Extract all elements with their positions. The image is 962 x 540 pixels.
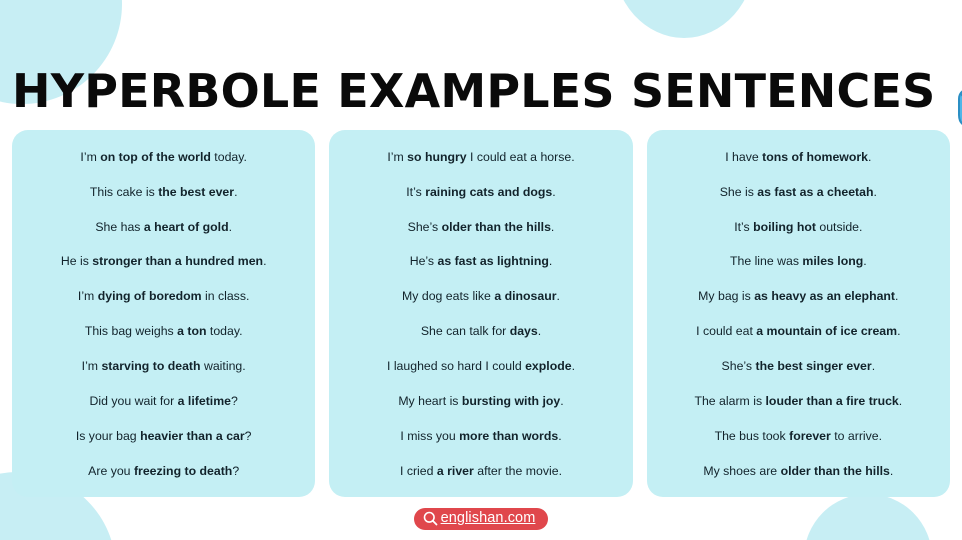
sentence-item: My bag is as heavy as an elephant. <box>657 289 940 304</box>
sentence-post: . <box>899 394 902 408</box>
sentence-item: He is stronger than a hundred men. <box>22 254 305 269</box>
sentence-post: today. <box>211 150 247 164</box>
sentence-pre: This bag weighs <box>85 324 177 338</box>
sentence-bold: more than words <box>459 429 558 443</box>
sentence-card-column-3: I have tons of homework. She is as fast … <box>647 130 950 497</box>
sentence-post: . <box>872 359 875 373</box>
sentence-item: She is as fast as a cheetah. <box>657 185 940 200</box>
sentence-pre: She can talk for <box>421 324 510 338</box>
sentence-post: . <box>895 289 898 303</box>
sentence-columns: I’m on top of the world today. This cake… <box>12 130 950 497</box>
sentence-pre: My dog eats like <box>402 289 494 303</box>
sentence-post: . <box>890 464 893 478</box>
sentence-bold: tons of homework <box>762 150 868 164</box>
sentence-bold: boiling hot <box>753 220 816 234</box>
sentence-pre: My shoes are <box>703 464 780 478</box>
sentence-pre: I laughed so hard I could <box>387 359 525 373</box>
sentence-pre: She has <box>95 220 144 234</box>
sentence-pre: I cried <box>400 464 437 478</box>
sentence-post: ? <box>245 429 252 443</box>
sentence-pre: The alarm is <box>694 394 765 408</box>
sentence-item: Did you wait for a lifetime? <box>22 394 305 409</box>
sentence-pre: My bag is <box>698 289 754 303</box>
sentence-pre: I could eat <box>696 324 756 338</box>
sentence-post: to arrive. <box>831 429 882 443</box>
sentence-item: This cake is the best ever. <box>22 185 305 200</box>
sentence-bold: miles long <box>802 254 863 268</box>
sentence-post: . <box>572 359 575 373</box>
sentence-item: He’s as fast as lightning. <box>339 254 622 269</box>
sentence-post: . <box>560 394 563 408</box>
sentence-post: . <box>234 185 237 199</box>
sentence-post: . <box>868 150 871 164</box>
sentence-bold: a ton <box>177 324 206 338</box>
sentence-item: My heart is bursting with joy. <box>339 394 622 409</box>
sentence-item: I could eat a mountain of ice cream. <box>657 324 940 339</box>
sentence-card-column-2: I’m so hungry I could eat a horse. It’s … <box>329 130 632 497</box>
poster-header: HYPERBOLE EXAMPLES SENTENCES <box>0 52 962 130</box>
sentence-bold: a mountain of ice cream <box>756 324 897 338</box>
sentence-bold: the best ever <box>158 185 234 199</box>
sentence-bold: a river <box>437 464 474 478</box>
poster-footer: englishan.com <box>0 508 962 530</box>
sentence-pre: She is <box>720 185 758 199</box>
sentence-item: I have tons of homework. <box>657 150 940 165</box>
sentence-pre: I’m <box>387 150 407 164</box>
decorative-circle-top-center <box>613 0 755 38</box>
sentence-item: She can talk for days. <box>339 324 622 339</box>
sentence-pre: It’s <box>734 220 753 234</box>
sentence-bold: the best singer ever <box>756 359 872 373</box>
sentence-post: . <box>552 185 555 199</box>
sentence-pre: He’s <box>410 254 438 268</box>
sentence-bold: explode <box>525 359 571 373</box>
sentence-post: in class. <box>202 289 250 303</box>
sentence-item: The bus took forever to arrive. <box>657 429 940 444</box>
sentence-bold: a heart of gold <box>144 220 229 234</box>
sentence-post: ? <box>231 394 238 408</box>
sentence-bold: as heavy as an elephant <box>754 289 895 303</box>
sentence-pre: I have <box>725 150 762 164</box>
sentence-pre: My heart is <box>398 394 462 408</box>
site-badge[interactable]: englishan.com <box>414 508 549 530</box>
sentence-item: It’s raining cats and dogs. <box>339 185 622 200</box>
sentence-pre: I’m <box>82 359 102 373</box>
sentence-item: Is your bag heavier than a car? <box>22 429 305 444</box>
sentence-bold: so hungry <box>407 150 466 164</box>
sentence-bold: heavier than a car <box>140 429 245 443</box>
sentence-bold: forever <box>789 429 831 443</box>
sentence-pre: The bus took <box>715 429 790 443</box>
sentence-item: I laughed so hard I could explode. <box>339 359 622 374</box>
sentence-item: My dog eats like a dinosaur. <box>339 289 622 304</box>
sentence-pre: The line was <box>730 254 802 268</box>
sentence-item: I’m starving to death waiting. <box>22 359 305 374</box>
sentence-bold: older than the hills <box>781 464 890 478</box>
sentence-pre: It’s <box>406 185 425 199</box>
sentence-bold: days <box>510 324 538 338</box>
sentence-item: The alarm is louder than a fire truck. <box>657 394 940 409</box>
sentence-post: today. <box>206 324 242 338</box>
sentence-pre: I’m <box>78 289 98 303</box>
sentence-pre: Are you <box>88 464 134 478</box>
sentence-item: I’m so hungry I could eat a horse. <box>339 150 622 165</box>
pencil-case-icon <box>949 41 962 133</box>
sentence-item: My shoes are older than the hills. <box>657 464 940 479</box>
sentence-post: . <box>863 254 866 268</box>
sentence-item: I’m dying of boredom in class. <box>22 289 305 304</box>
sentence-item: This bag weighs a ton today. <box>22 324 305 339</box>
sentence-bold: freezing to death <box>134 464 232 478</box>
sentence-post: . <box>229 220 232 234</box>
sentence-item: I cried a river after the movie. <box>339 464 622 479</box>
sentence-item: Are you freezing to death? <box>22 464 305 479</box>
sentence-post: outside. <box>816 220 863 234</box>
sentence-pre: Did you wait for <box>90 394 178 408</box>
sentence-bold: louder than a fire truck <box>766 394 899 408</box>
sentence-bold: raining cats and dogs <box>425 185 552 199</box>
sentence-pre: She’s <box>408 220 442 234</box>
sentence-bold: a lifetime <box>178 394 231 408</box>
sentence-post: . <box>874 185 877 199</box>
sentence-post: waiting. <box>201 359 246 373</box>
sentence-card-column-1: I’m on top of the world today. This cake… <box>12 130 315 497</box>
sentence-bold: bursting with joy <box>462 394 560 408</box>
sentence-item: The line was miles long. <box>657 254 940 269</box>
sentence-post: ? <box>232 464 239 478</box>
sentence-item: She’s the best singer ever. <box>657 359 940 374</box>
sentence-bold: older than the hills <box>442 220 551 234</box>
sentence-post: . <box>538 324 541 338</box>
sentence-bold: dying of boredom <box>98 289 202 303</box>
sentence-post: after the movie. <box>474 464 562 478</box>
sentence-item: It’s boiling hot outside. <box>657 220 940 235</box>
sentence-post: . <box>549 254 552 268</box>
sentence-post: . <box>558 429 561 443</box>
sentence-bold: as fast as a cheetah <box>757 185 873 199</box>
sentence-pre: I’m <box>80 150 100 164</box>
sentence-bold: on top of the world <box>100 150 211 164</box>
page-title: HYPERBOLE EXAMPLES SENTENCES <box>0 68 935 114</box>
sentence-bold: a dinosaur <box>494 289 556 303</box>
sentence-post: . <box>551 220 554 234</box>
sentence-item: I miss you more than words. <box>339 429 622 444</box>
sentence-item: I’m on top of the world today. <box>22 150 305 165</box>
sentence-pre: I miss you <box>400 429 459 443</box>
sentence-post: . <box>263 254 266 268</box>
sentence-post: . <box>557 289 560 303</box>
sentence-bold: starving to death <box>101 359 200 373</box>
sentence-pre: This cake is <box>90 185 158 199</box>
sentence-bold: as fast as lightning <box>437 254 548 268</box>
poster-canvas: HYPERBOLE EXAMPLES SENTENCES <box>0 0 962 540</box>
site-name: englishan.com <box>441 511 536 526</box>
sentence-bold: stronger than a hundred men <box>92 254 263 268</box>
sentence-item: She has a heart of gold. <box>22 220 305 235</box>
sentence-pre: Is your bag <box>76 429 140 443</box>
sentence-post: I could eat a horse. <box>467 150 575 164</box>
magnifying-glass-icon <box>423 511 438 526</box>
sentence-pre: He is <box>61 254 92 268</box>
sentence-pre: She’s <box>722 359 756 373</box>
sentence-item: She’s older than the hills. <box>339 220 622 235</box>
sentence-post: . <box>897 324 900 338</box>
